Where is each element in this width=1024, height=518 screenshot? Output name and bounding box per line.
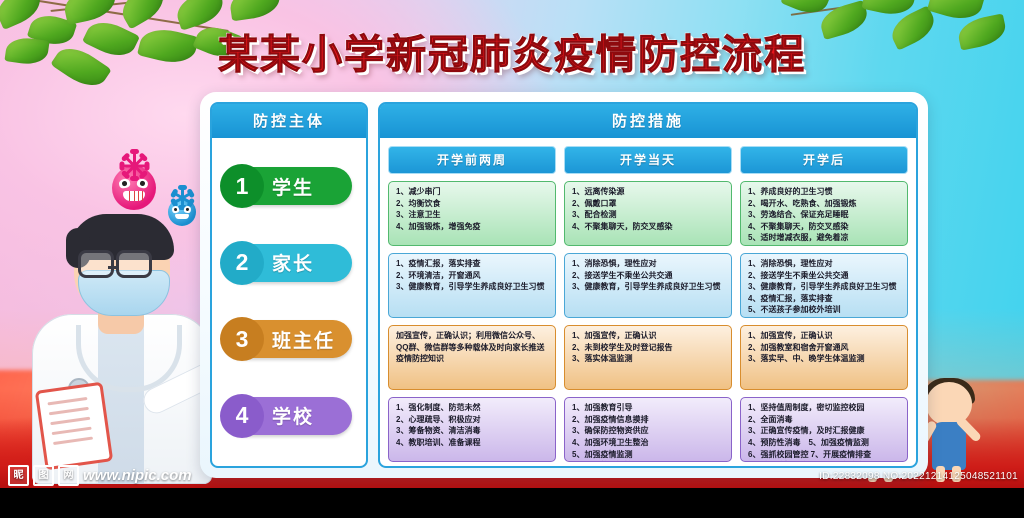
subject-item-school[interactable]: 4 学校 <box>224 397 352 435</box>
watermark-char-3: 网 <box>58 465 79 486</box>
cell-parent-after: 1、消除恐惧，理性应对 2、接送学生不乘坐公共交通 3、健康教育，引导学生养成良… <box>740 253 908 318</box>
clipboard-icon <box>35 382 113 471</box>
measures-grid: 开学前两周 1、减少串门 2、均衡饮食 3、注意卫生 4、加强锻炼，增强免疫 1… <box>380 138 916 471</box>
subject-number: 1 <box>220 164 264 208</box>
cell-parent-before: 1、疫情汇报，落实排查 2、环境清洁，开窗通风 3、健康教育，引导学生养成良好卫… <box>388 253 556 318</box>
footer-bar <box>0 488 1024 518</box>
cell-school-after: 1、坚持值周制度，密切监控校园 2、全面消毒 3、正确宣传疫情，及时汇报健康 4… <box>740 397 908 462</box>
subject-number: 3 <box>220 317 264 361</box>
measures-col-after: 开学后 1、养成良好的卫生习惯 2、喝开水、吃熟食、加强锻炼 3、劳逸结合、保证… <box>740 146 908 462</box>
cell-student-day: 1、远离传染源 2、佩戴口罩 3、配合检测 4、不聚集聊天，防交叉感染 <box>564 181 732 246</box>
cell-parent-day: 1、消除恐惧，理性应对 2、接送学生不乘坐公共交通 3、健康教育，引导学生养成良… <box>564 253 732 318</box>
image-id-number: ID:22832098 NO:20221214125048521101 <box>819 471 1018 482</box>
cell-teacher-before: 加强宣传，正确认识；利用微信公众号、QQ群、微信群等多种载体及时向家长推送疫情防… <box>388 325 556 390</box>
measures-col-before: 开学前两周 1、减少串门 2、均衡饮食 3、注意卫生 4、加强锻炼，增强免疫 1… <box>388 146 556 462</box>
subject-label: 家长 <box>272 249 314 276</box>
watermark: 昵 图 网 www.nipic.com <box>8 465 192 486</box>
subject-label: 班主任 <box>272 326 335 353</box>
column-header-day: 开学当天 <box>564 146 732 174</box>
subject-header: 防控主体 <box>212 104 366 138</box>
subject-number: 2 <box>220 241 264 285</box>
subject-label: 学校 <box>272 402 314 429</box>
measures-header: 防控措施 <box>380 104 916 138</box>
subject-column: 防控主体 1 学生 2 家长 3 班主任 4 <box>210 102 368 468</box>
watermark-char-1: 昵 <box>8 465 29 486</box>
virus-mascot-pink <box>112 166 156 210</box>
watermark-char-2: 图 <box>33 465 54 486</box>
virus-mascot-blue <box>168 198 196 226</box>
poster: 某某小学新冠肺炎疫情防控流程 防控主体 1 学生 2 家长 3 班主任 <box>0 0 1024 518</box>
cell-school-before: 1、强化制度、防范未然 2、心理疏导、积极应对 3、筹备物资、清洁消毒 4、教职… <box>388 397 556 462</box>
column-header-before: 开学前两周 <box>388 146 556 174</box>
cell-teacher-day: 1、加强宣传，正确认识 2、未到校学生及时登记报告 3、落实体温监测 <box>564 325 732 390</box>
measures-col-day: 开学当天 1、远离传染源 2、佩戴口罩 3、配合检测 4、不聚集聊天，防交叉感染… <box>564 146 732 462</box>
cell-student-before: 1、减少串门 2、均衡饮食 3、注意卫生 4、加强锻炼，增强免疫 <box>388 181 556 246</box>
cell-teacher-after: 1、加强宣传，正确认识 2、加强教室和宿舍开窗通风 3、落实早、中、晚学生体温监… <box>740 325 908 390</box>
subject-list: 1 学生 2 家长 3 班主任 4 学校 <box>212 138 366 466</box>
subject-item-parent[interactable]: 2 家长 <box>224 244 352 282</box>
column-header-after: 开学后 <box>740 146 908 174</box>
measures-column: 防控措施 开学前两周 1、减少串门 2、均衡饮食 3、注意卫生 4、加强锻炼，增… <box>378 102 918 468</box>
main-panel: 防控主体 1 学生 2 家长 3 班主任 4 <box>200 92 928 478</box>
watermark-site: www.nipic.com <box>83 467 192 484</box>
cell-school-day: 1、加强教育引导 2、加强疫情信息摸排 3、确保防控物资供应 4、加强环境卫生整… <box>564 397 732 462</box>
subject-number: 4 <box>220 394 264 438</box>
page-title: 某某小学新冠肺炎疫情防控流程 <box>0 22 1024 80</box>
cell-student-after: 1、养成良好的卫生习惯 2、喝开水、吃熟食、加强锻炼 3、劳逸结合、保证充足睡眠… <box>740 181 908 246</box>
subject-item-student[interactable]: 1 学生 <box>224 167 352 205</box>
subject-item-head-teacher[interactable]: 3 班主任 <box>224 320 352 358</box>
subject-label: 学生 <box>272 173 314 200</box>
